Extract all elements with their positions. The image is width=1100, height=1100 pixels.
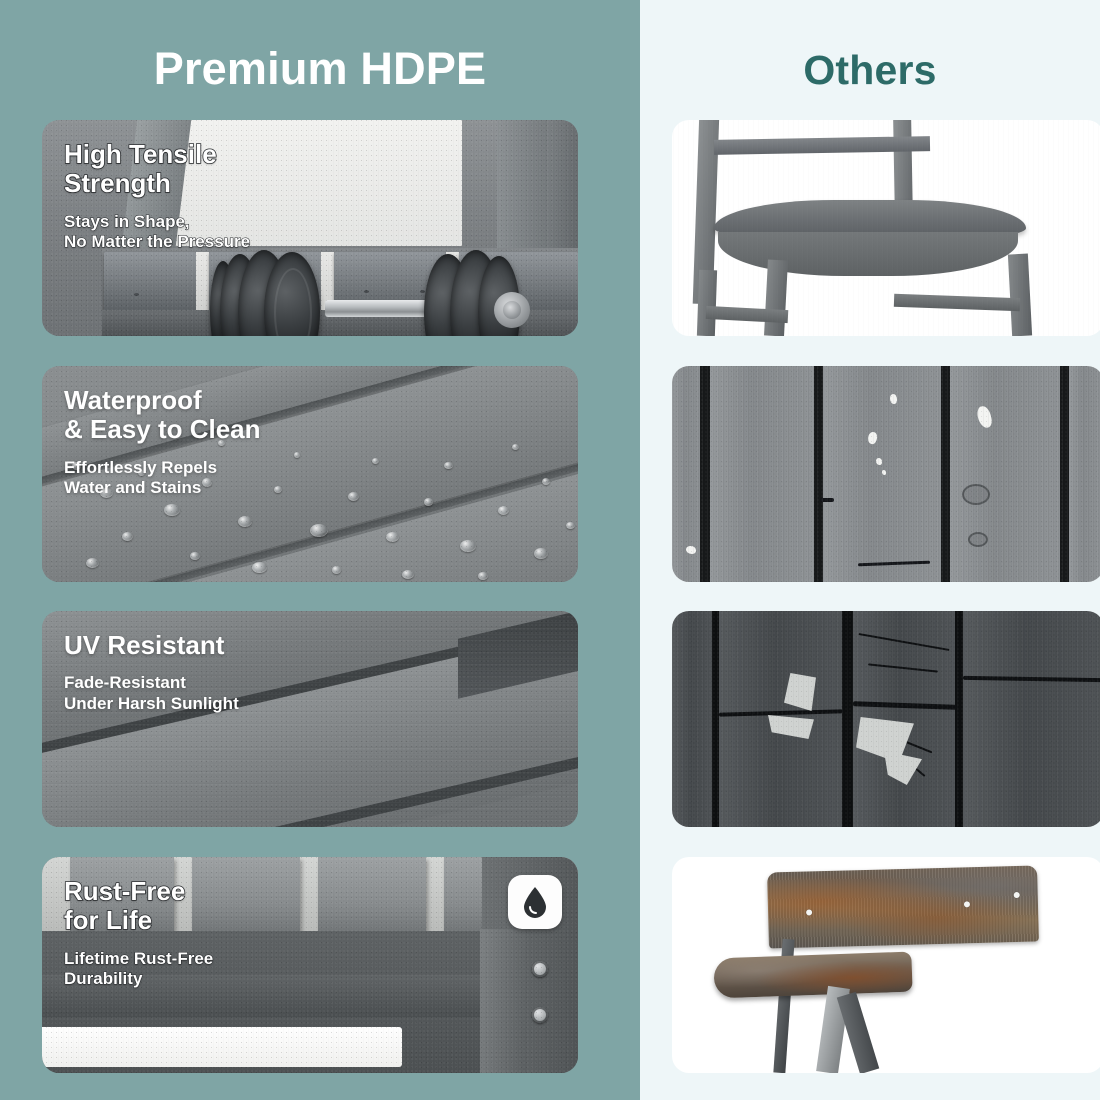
comparison-infographic: Premium HDPE xyxy=(0,0,1100,1100)
others-panel: Others xyxy=(640,0,1100,1100)
feature-card-rust-free-for-life: Rust-Free for Life Lifetime Rust-Free Du… xyxy=(42,857,578,1073)
feature-card-waterproof-easy-to-clean: Waterproof & Easy to Clean Effortlessly … xyxy=(42,366,578,582)
premium-hdpe-panel: Premium HDPE xyxy=(0,0,640,1100)
water-drop-badge xyxy=(508,875,562,929)
others-card-grey-chair xyxy=(672,120,1100,336)
feature-card-high-tensile-strength: High Tensile Strength Stays in Shape, No… xyxy=(42,120,578,336)
photo-cracked-peeling-wood xyxy=(672,611,1100,827)
water-drop-icon xyxy=(522,886,548,918)
others-card-rusty-chair xyxy=(672,857,1100,1073)
photo-rust-free-frame xyxy=(42,857,578,1073)
photo-dumbbell-on-hdpe xyxy=(42,120,578,336)
photo-uv-resistant-deck xyxy=(42,611,578,827)
photo-chipped-grey-planks xyxy=(672,366,1100,582)
page-title-right: Others xyxy=(640,0,1100,91)
page-title-left: Premium HDPE xyxy=(0,0,640,91)
others-card-chipped-planks xyxy=(672,366,1100,582)
photo-rusty-weathered-chair xyxy=(672,857,1100,1073)
photo-water-droplets xyxy=(42,366,578,582)
others-card-cracked-planks xyxy=(672,611,1100,827)
feature-card-uv-resistant: UV Resistant Fade-Resistant Under Harsh … xyxy=(42,611,578,827)
photo-grey-wooden-chair xyxy=(672,120,1100,336)
